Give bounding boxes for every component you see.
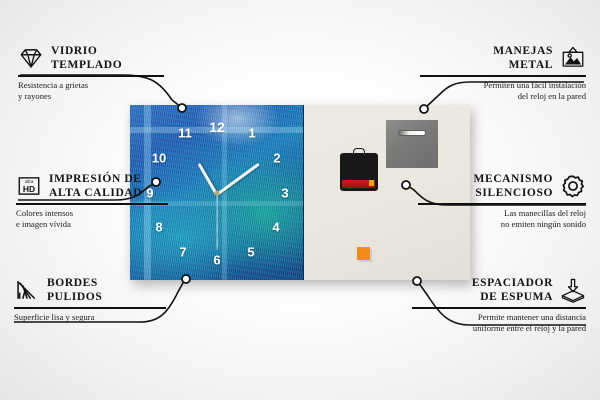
callout-mecanismo-silencioso: MECANISMO SILENCIOSO Las manecillas del … — [418, 172, 586, 230]
callout-title-line1: ESPACIADOR — [472, 277, 553, 289]
metal-hanger — [386, 120, 438, 168]
callout-title-line2: DE ESPUMA — [480, 291, 553, 303]
polished-edges-icon — [14, 277, 40, 303]
callout-desc-line2: del reloj en la pared — [518, 91, 586, 101]
infographic-canvas: 12 1 2 3 4 5 6 7 8 9 10 11 — [0, 0, 600, 400]
callout-title: ESPACIADOR DE ESPUMA — [472, 276, 553, 304]
callout-description: Colores intensos e imagen vívida — [16, 208, 186, 231]
callout-title-line1: MECANISMO — [473, 173, 553, 185]
callout-desc-line1: Las manecillas del reloj — [504, 208, 586, 218]
callout-divider — [16, 203, 168, 205]
callout-title-line2: TEMPLADO — [51, 59, 122, 71]
callout-header: VIDRIO TEMPLADO — [18, 44, 178, 72]
foam-spacer — [357, 247, 370, 260]
callout-title-line2: METAL — [509, 59, 553, 71]
clock-numeral: 7 — [179, 246, 186, 259]
callout-title-line2: ALTA CALIDAD — [49, 187, 142, 199]
callout-divider — [14, 307, 166, 309]
callout-title: VIDRIO TEMPLADO — [51, 44, 122, 72]
callout-title-line2: PULIDOS — [47, 291, 102, 303]
clock-hour-hand — [198, 163, 219, 196]
callout-header: ultra HD IMPRESIÓN DE ALTA CALIDAD — [16, 172, 186, 200]
callout-divider — [420, 75, 586, 77]
callout-title: MECANISMO SILENCIOSO — [473, 172, 553, 200]
callout-header: MANEJAS METAL — [420, 44, 586, 72]
callout-desc-line2: uniforme entre el reloj y la pared — [473, 323, 586, 333]
callout-title-line2: SILENCIOSO — [475, 187, 553, 199]
callout-espaciador-espuma: ESPACIADOR DE ESPUMA Permite mantener un… — [412, 276, 586, 334]
callout-desc-line1: Superficie lisa y segura — [14, 312, 94, 322]
clock-numeral: 11 — [178, 127, 192, 140]
callout-desc-line1: Permite mantener una distancia — [478, 312, 586, 322]
callout-title: MANEJAS METAL — [493, 44, 553, 72]
clock-numeral: 2 — [273, 152, 280, 165]
callout-impresion-alta-calidad: ultra HD IMPRESIÓN DE ALTA CALIDAD Color… — [16, 172, 186, 230]
hanger-slot — [398, 130, 426, 136]
callout-title-line1: MANEJAS — [493, 45, 553, 57]
callout-header: ESPACIADOR DE ESPUMA — [412, 276, 586, 304]
clock-second-hand — [216, 194, 217, 250]
callout-vidrio-templado: VIDRIO TEMPLADO Resistencia a grietas y … — [18, 44, 178, 102]
callout-divider — [412, 307, 586, 309]
callout-desc-line2: y rayones — [18, 91, 51, 101]
clock-minute-hand — [216, 163, 260, 196]
callout-desc-line2: e imagen vívida — [16, 219, 71, 229]
callout-title-line1: IMPRESIÓN DE — [49, 173, 142, 185]
callout-description: Las manecillas del reloj no emiten ningú… — [418, 208, 586, 231]
gear-icon — [560, 173, 586, 199]
foam-spacer-icon — [560, 277, 586, 303]
callout-manejas-metal: MANEJAS METAL Permiten una fácil instala… — [420, 44, 586, 102]
callout-desc-line1: Resistencia a grietas — [18, 80, 88, 90]
callout-title: IMPRESIÓN DE ALTA CALIDAD — [49, 172, 142, 200]
quartz-mechanism — [340, 153, 378, 191]
mechanism-shaft — [353, 148, 365, 154]
aa-battery — [342, 180, 375, 188]
callout-description: Resistencia a grietas y rayones — [18, 80, 178, 103]
clock-numeral: 3 — [281, 187, 288, 200]
picture-frame-icon — [560, 45, 586, 71]
callout-bordes-pulidos: BORDES PULIDOS Superficie lisa y segura — [14, 276, 179, 323]
callout-title-line1: BORDES — [47, 277, 98, 289]
clock-center-cap — [215, 191, 220, 196]
callout-header: MECANISMO SILENCIOSO — [418, 172, 586, 200]
callout-description: Permite mantener una distancia uniforme … — [412, 312, 586, 335]
clock-numeral: 6 — [213, 254, 220, 267]
callout-desc-line2: no emiten ningún sonido — [501, 219, 586, 229]
callout-title-line1: VIDRIO — [51, 45, 97, 57]
ultra-hd-icon: ultra HD — [16, 173, 42, 199]
callout-title: BORDES PULIDOS — [47, 276, 102, 304]
callout-divider — [418, 203, 586, 205]
clock-numeral: 12 — [209, 120, 225, 134]
callout-description: Permiten una fácil instalación del reloj… — [420, 80, 586, 103]
callout-description: Superficie lisa y segura — [14, 312, 179, 323]
callout-header: BORDES PULIDOS — [14, 276, 179, 304]
callout-desc-line1: Colores intensos — [16, 208, 73, 218]
ultra-hd-icon-bottom-text: HD — [20, 185, 38, 194]
clock-numeral: 1 — [248, 127, 255, 140]
clock-numeral: 5 — [247, 246, 254, 259]
callout-desc-line1: Permiten una fácil instalación — [484, 80, 586, 90]
callout-divider — [18, 75, 164, 77]
clock-numeral: 10 — [152, 152, 166, 165]
clock-numeral: 4 — [272, 221, 279, 234]
diamond-icon — [18, 45, 44, 71]
